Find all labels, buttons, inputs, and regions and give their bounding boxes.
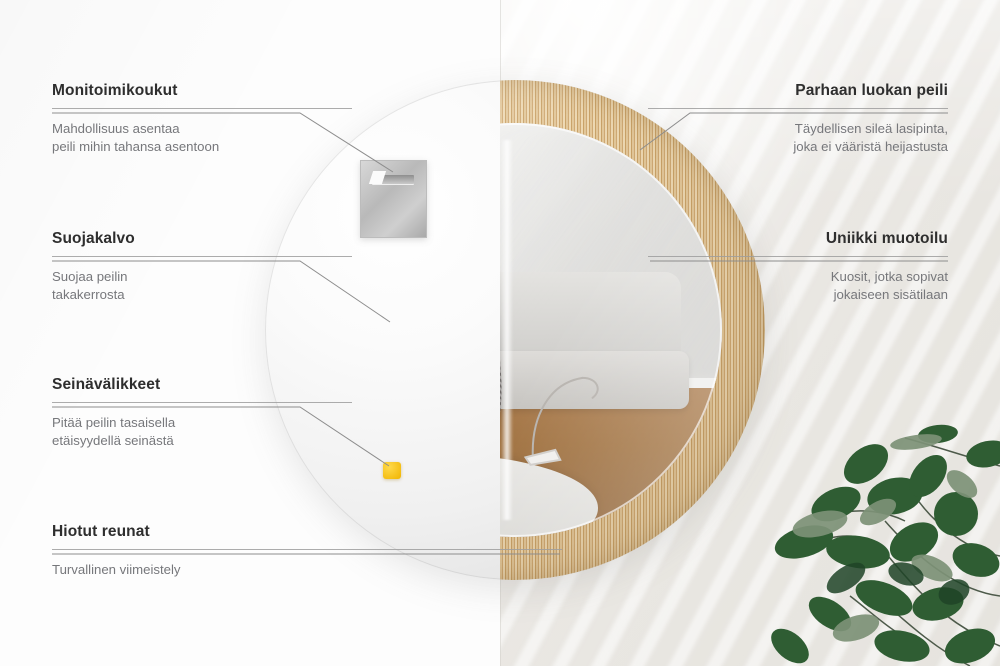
callout-rule (52, 256, 352, 257)
callout-title: Uniikki muotoilu (648, 230, 948, 247)
bracket-slot (372, 175, 414, 184)
callout-description: Turvallinen viimeistely (52, 561, 562, 579)
callout-premium-mirror: Parhaan luokan peili Täydellisen sileä l… (648, 82, 948, 155)
callout-rule (52, 402, 352, 403)
callout-wall-spacers: Seinävälikkeet Pitää peilin tasaisella e… (52, 376, 352, 449)
callout-title: Parhaan luokan peili (648, 82, 948, 99)
callout-rule (648, 108, 948, 109)
callout-protective-film: Suojakalvo Suojaa peilin takakerrosta (52, 230, 352, 303)
callout-rule (52, 549, 562, 550)
callout-description: Kuosit, jotka sopivat jokaiseen sisätila… (648, 268, 948, 303)
product-infographic: Monitoimikoukut Mahdollisuus asentaa pei… (0, 0, 1000, 666)
callout-description: Pitää peilin tasaisella etäisyydellä sei… (52, 414, 352, 449)
callout-title: Seinävälikkeet (52, 376, 352, 393)
callout-description: Suojaa peilin takakerrosta (52, 268, 352, 303)
reflected-floor-lamp (523, 351, 622, 467)
callout-unique-design: Uniikki muotoilu Kuosit, jotka sopivat j… (648, 230, 948, 303)
callout-description: Täydellisen sileä lasipinta, joka ei vää… (648, 120, 948, 155)
callout-title: Suojakalvo (52, 230, 352, 247)
callout-rule (648, 256, 948, 257)
yellow-spacer (383, 462, 401, 479)
callout-title: Hiotut reunat (52, 523, 562, 540)
callout-polished-edges: Hiotut reunat Turvallinen viimeistely (52, 523, 562, 579)
callout-mounting-hooks: Monitoimikoukut Mahdollisuus asentaa pei… (52, 82, 352, 155)
wall-bracket-plate (360, 160, 427, 238)
callout-rule (52, 108, 352, 109)
callout-title: Monitoimikoukut (52, 82, 352, 99)
callout-description: Mahdollisuus asentaa peili mihin tahansa… (52, 120, 352, 155)
